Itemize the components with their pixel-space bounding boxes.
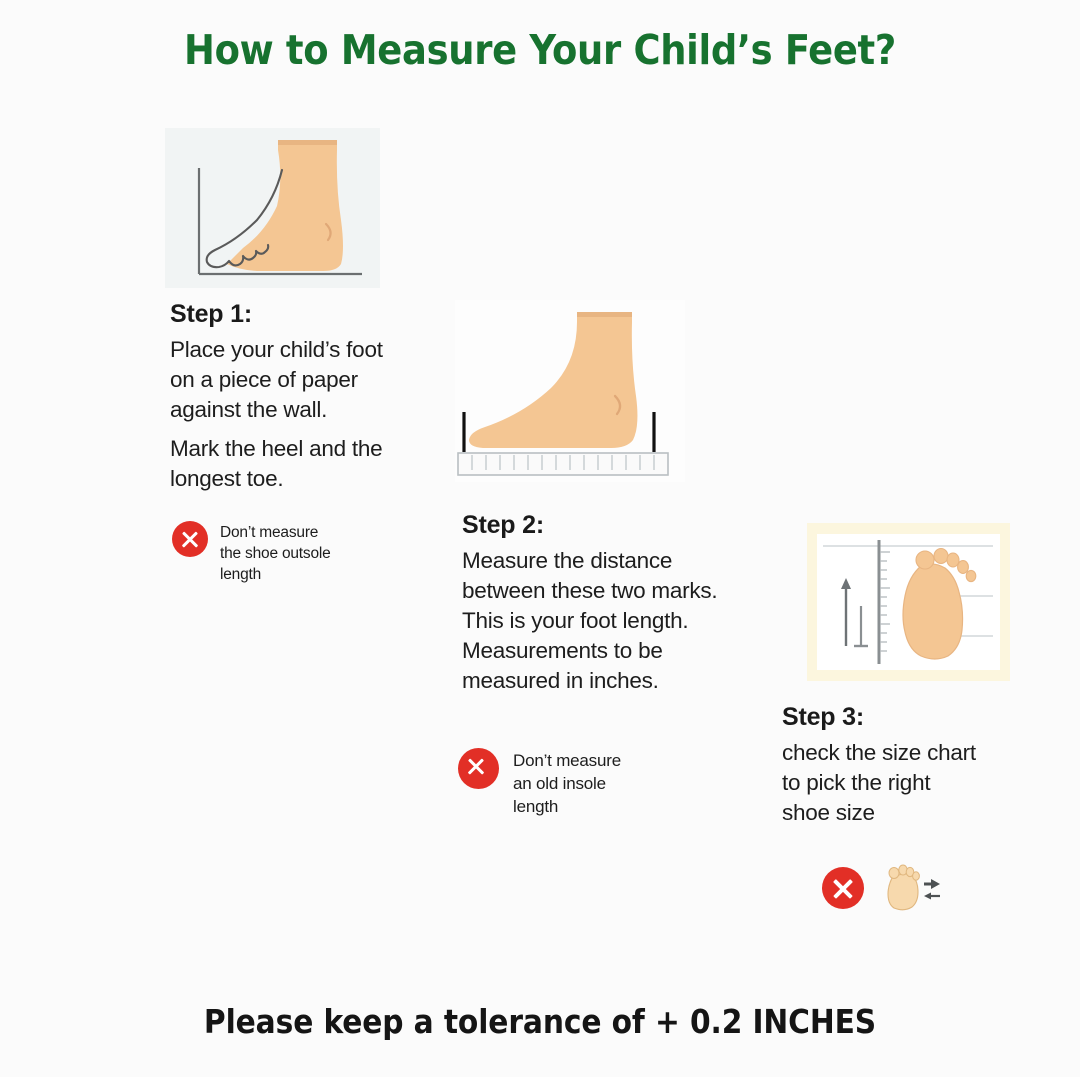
step-2-warning-line-3: length: [513, 795, 621, 818]
step-3-line-2: to pick the right: [782, 768, 1032, 798]
step-1-warning-line-2: the shoe outsole: [220, 543, 331, 564]
step-2-illustration: [455, 300, 685, 482]
step-2-warning-line-1: Don’t measure: [513, 749, 621, 772]
step-3-line-3: shoe size: [782, 798, 1032, 828]
step-1-line-2: on a piece of paper: [170, 365, 420, 395]
step-3-illustration: [807, 523, 1010, 681]
step-2-heading: Step 2:: [462, 511, 544, 540]
step-2-body: Measure the distance between these two m…: [462, 546, 792, 696]
foot-on-ruler-illustration: [455, 300, 685, 482]
step-1-line-1: Place your child’s foot: [170, 335, 420, 365]
step-2-warning: Don’t measure an old insole length: [458, 748, 621, 818]
step-1-line-3: against the wall.: [170, 395, 420, 425]
step-2-line-4: Measurements to be: [462, 636, 792, 666]
red-x-circle-icon: [172, 521, 208, 557]
step-3-body: check the size chart to pick the right s…: [782, 738, 1032, 828]
arrow-right-icon: [924, 879, 940, 889]
arrow-left-icon: [924, 893, 940, 900]
step-2-line-5: measured in inches.: [462, 666, 792, 696]
step-2-line-1: Measure the distance: [462, 546, 792, 576]
step-1-illustration: [165, 128, 380, 288]
step-1-body: Place your child’s foot on a piece of pa…: [170, 335, 420, 494]
red-x-circle-icon: [822, 867, 864, 909]
step-1-line-4: Mark the heel and the: [170, 434, 420, 464]
step-1-heading: Step 1:: [170, 300, 252, 329]
step-1-warning: Don’t measure the shoe outsole length: [172, 521, 331, 585]
step-2-warning-text: Don’t measure an old insole length: [513, 748, 621, 818]
infographic-canvas: How to Measure Your Child’s Feet? Step 1…: [0, 0, 1080, 1077]
step-1-line-5: longest toe.: [170, 464, 420, 494]
step-1-warning-text: Don’t measure the shoe outsole length: [220, 521, 331, 585]
red-x-circle-icon: [458, 748, 499, 789]
footprint-on-size-chart-illustration: [817, 534, 1000, 670]
tolerance-note: Please keep a tolerance of + 0.2 INCHES: [0, 1002, 1080, 1041]
long-measure-arrow: [841, 578, 851, 646]
page-title: How to Measure Your Child’s Feet?: [0, 26, 1080, 74]
step-3-warning: [822, 862, 942, 914]
step-2-line-3: This is your foot length.: [462, 606, 792, 636]
step-2-line-2: between these two marks.: [462, 576, 792, 606]
foot-against-wall-illustration: [165, 128, 380, 288]
step-1-warning-line-3: length: [220, 564, 331, 585]
step-3-line-1: check the size chart: [782, 738, 1032, 768]
step-2-warning-line-2: an old insole: [513, 772, 621, 795]
step-3-heading: Step 3:: [782, 703, 864, 732]
short-measure-arrow: [854, 606, 868, 646]
step-1-warning-line-1: Don’t measure: [220, 522, 331, 543]
footprint-width-arrows-icon: [880, 862, 942, 914]
